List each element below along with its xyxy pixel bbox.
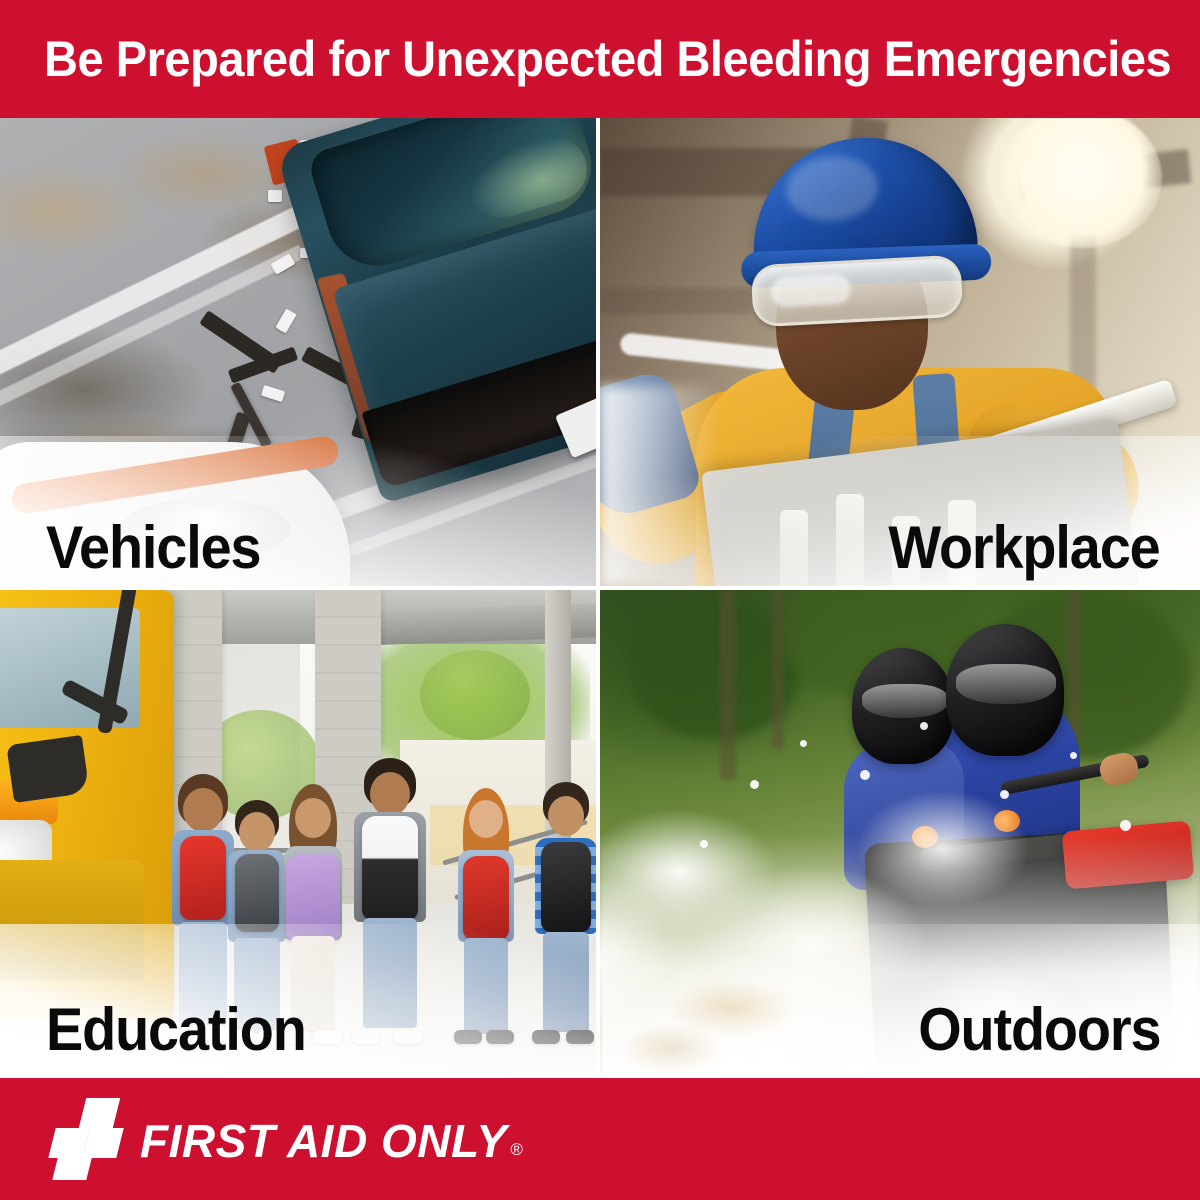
safety-goggles [751, 255, 964, 328]
water-droplet [800, 740, 807, 747]
cross-block-bottom [52, 1150, 93, 1180]
outdoors-photo: Outdoors [600, 590, 1200, 1074]
brand-logo[interactable]: FIRST AID ONLY® [48, 1098, 520, 1180]
water-droplet [860, 770, 870, 780]
child-backpack-black [541, 842, 591, 932]
brand-name: FIRST AID ONLY [140, 1115, 507, 1167]
water-droplet [920, 722, 928, 730]
ceiling-beam [600, 288, 750, 314]
child-backpack-white-black [362, 816, 418, 920]
child-legs [543, 932, 589, 1032]
child-head [183, 788, 223, 832]
first-aid-cross-icon [48, 1098, 130, 1180]
child-shoe [352, 1030, 380, 1044]
machine-peg [780, 510, 808, 586]
child-legs [363, 918, 417, 1028]
category-label-education: Education [46, 999, 306, 1060]
header-banner: Be Prepared for Unexpected Bleeding Emer… [0, 0, 1200, 118]
water-droplet [1070, 752, 1077, 759]
child-head [548, 796, 584, 836]
cross-block-top [78, 1098, 120, 1132]
category-label-outdoors: Outdoors [918, 999, 1160, 1060]
workplace-photo: Workplace [600, 118, 1200, 586]
education-photo: Education [0, 590, 596, 1074]
child-shoe [314, 1030, 342, 1044]
child-shoe [454, 1030, 482, 1044]
machine-peg [836, 494, 864, 586]
child-backpack-red [463, 856, 509, 940]
student [452, 788, 520, 1034]
child-shoe [532, 1030, 560, 1044]
child-head [295, 798, 331, 838]
page-title: Be Prepared for Unexpected Bleeding Emer… [44, 34, 1171, 84]
child-legs [464, 938, 508, 1034]
crash-debris [268, 190, 282, 202]
brand-wordmark: FIRST AID ONLY® [140, 1118, 520, 1164]
child-backpack-red [180, 836, 226, 920]
child-shoe [394, 1030, 422, 1044]
bus-body-lower [0, 860, 144, 980]
category-label-workplace: Workplace [889, 517, 1160, 578]
foreground-blur [600, 386, 720, 586]
child-head [370, 772, 410, 816]
registered-trademark-icon: ® [510, 1140, 523, 1159]
child-backpack-gray [235, 854, 279, 932]
category-label-vehicles: Vehicles [46, 517, 260, 578]
yellow-school-bus [0, 590, 174, 1020]
driver-visor [956, 664, 1056, 704]
vehicles-photo: Vehicles [0, 118, 596, 586]
tree-foliage [420, 650, 530, 740]
category-grid: Vehicles [0, 118, 1200, 1078]
category-card-outdoors[interactable]: Outdoors [600, 590, 1200, 1074]
child-head [469, 800, 503, 838]
water-droplet [700, 840, 708, 848]
category-card-workplace[interactable]: Workplace [600, 118, 1200, 590]
water-droplet [1120, 820, 1131, 831]
footer-banner: FIRST AID ONLY® [0, 1078, 1200, 1200]
child-shoe [486, 1030, 514, 1044]
poster: Be Prepared for Unexpected Bleeding Emer… [0, 0, 1200, 1200]
child-head [239, 812, 275, 852]
category-card-vehicles[interactable]: Vehicles [0, 118, 600, 590]
child-shoe [566, 1030, 594, 1044]
category-card-education[interactable]: Education [0, 590, 600, 1074]
student [348, 758, 432, 1034]
student [530, 780, 596, 1034]
water-droplet [750, 780, 759, 789]
water-droplet [1000, 790, 1009, 799]
child-backpack-purple [286, 854, 340, 942]
